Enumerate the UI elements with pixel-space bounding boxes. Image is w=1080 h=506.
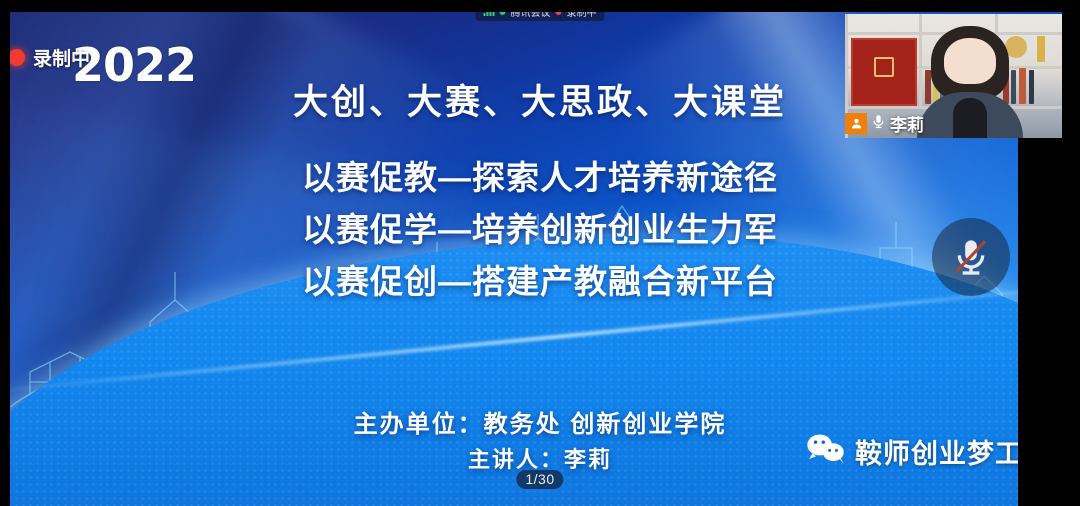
recording-dot-icon	[8, 49, 25, 66]
participant-name-bar: 李莉	[845, 109, 930, 138]
microphone-muted-icon[interactable]	[932, 218, 1010, 296]
slide-bullet-1: 以赛促教—探索人才培养新途径	[10, 152, 1070, 204]
slide-page-indicator: 1/30	[516, 470, 563, 489]
recording-overlay-label: 录制中	[33, 44, 90, 71]
slide-bullet-3: 以赛促创—搭建产教融合新平台	[10, 256, 1070, 308]
slide-bullets: 以赛促教—探索人才培养新途径 以赛促学—培养创新创业生力军 以赛促创—搭建产教融…	[10, 152, 1070, 308]
microphone-icon	[871, 112, 886, 136]
letterbox-top	[0, 0, 1080, 12]
participant-name-label: 李莉	[890, 111, 924, 136]
meeting-screen: 2022 大创、大赛、大思政、大课堂 以赛促教—探索人才培养新途径 以赛促学—培…	[0, 0, 1080, 506]
letterbox-left	[0, 0, 10, 506]
slide-bullet-2: 以赛促学—培养创新创业生力军	[10, 204, 1070, 256]
participant-figure	[931, 26, 1009, 100]
letterbox-right-block	[1018, 138, 1080, 506]
recording-overlay: 录制中	[8, 44, 90, 71]
host-person-icon	[845, 113, 867, 134]
self-view-video-tile[interactable]: 李莉	[845, 14, 1062, 138]
wechat-icon	[806, 433, 846, 470]
wechat-watermark: 鞍师创业梦工厂	[806, 432, 1051, 471]
red-book-decoration	[851, 38, 917, 106]
